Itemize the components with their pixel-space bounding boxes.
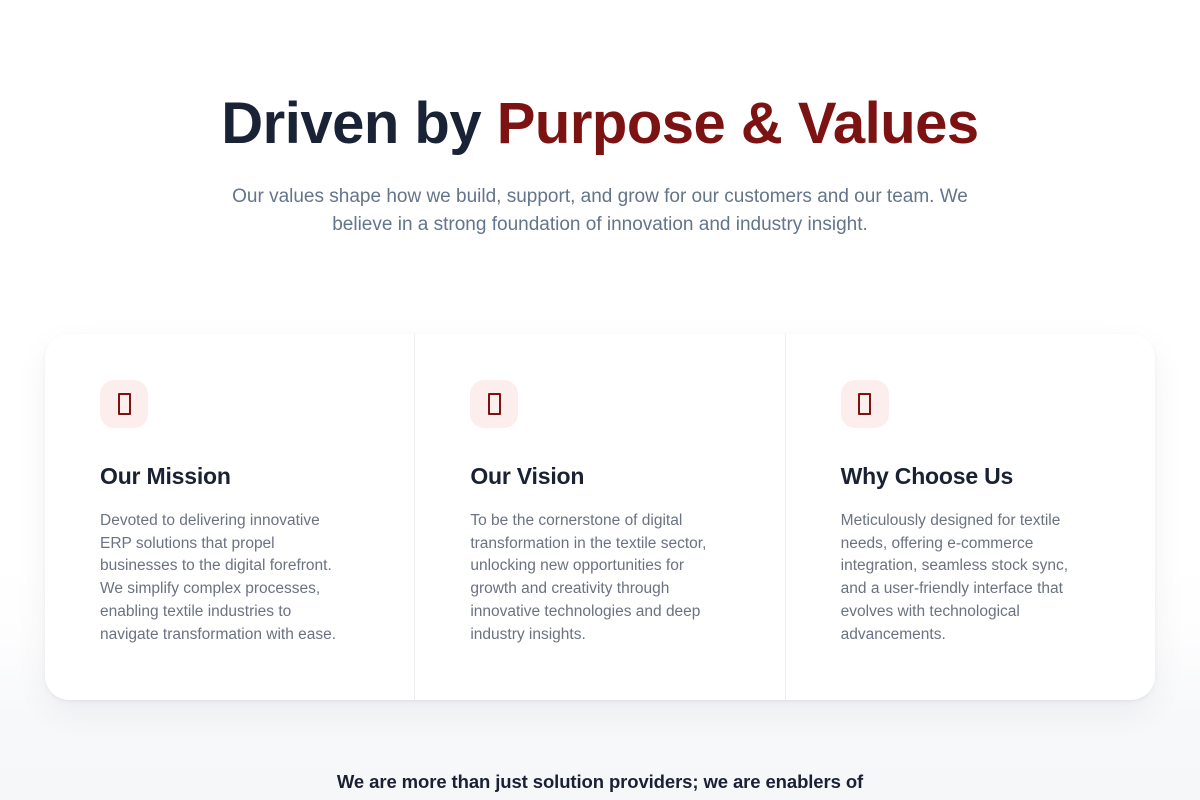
hero-subtitle: Our values shape how we build, support, … — [224, 183, 976, 239]
page-title-lead: Driven by — [221, 91, 496, 156]
value-card-mission: Our Mission Devoted to delivering innova… — [45, 334, 414, 700]
why-choose-us-icon-badge — [841, 380, 889, 428]
missing-glyph-box-icon — [858, 393, 871, 415]
value-card-body: Devoted to delivering innovative ERP sol… — [100, 510, 350, 646]
value-card-title: Our Vision — [470, 462, 744, 490]
missing-glyph-box-icon — [488, 393, 501, 415]
mission-icon-badge — [100, 380, 148, 428]
vision-icon-badge — [470, 380, 518, 428]
value-card-why-choose-us: Why Choose Us Meticulously designed for … — [785, 334, 1155, 700]
value-card-body: Meticulously designed for textile needs,… — [841, 510, 1081, 646]
bottom-statement: We are more than just solution providers… — [0, 768, 1200, 796]
missing-glyph-box-icon — [118, 393, 131, 415]
hero-section: Driven by Purpose & Values Our values sh… — [0, 0, 1200, 239]
value-card-title: Why Choose Us — [841, 462, 1115, 490]
value-card-vision: Our Vision To be the cornerstone of digi… — [414, 334, 784, 700]
page-title: Driven by Purpose & Values — [0, 92, 1200, 157]
values-card-container: Our Mission Devoted to delivering innova… — [45, 334, 1155, 700]
value-card-title: Our Mission — [100, 462, 374, 490]
page-title-accent: Purpose & Values — [497, 91, 979, 156]
value-card-body: To be the cornerstone of digital transfo… — [470, 510, 726, 646]
values-page: Driven by Purpose & Values Our values sh… — [0, 0, 1200, 800]
